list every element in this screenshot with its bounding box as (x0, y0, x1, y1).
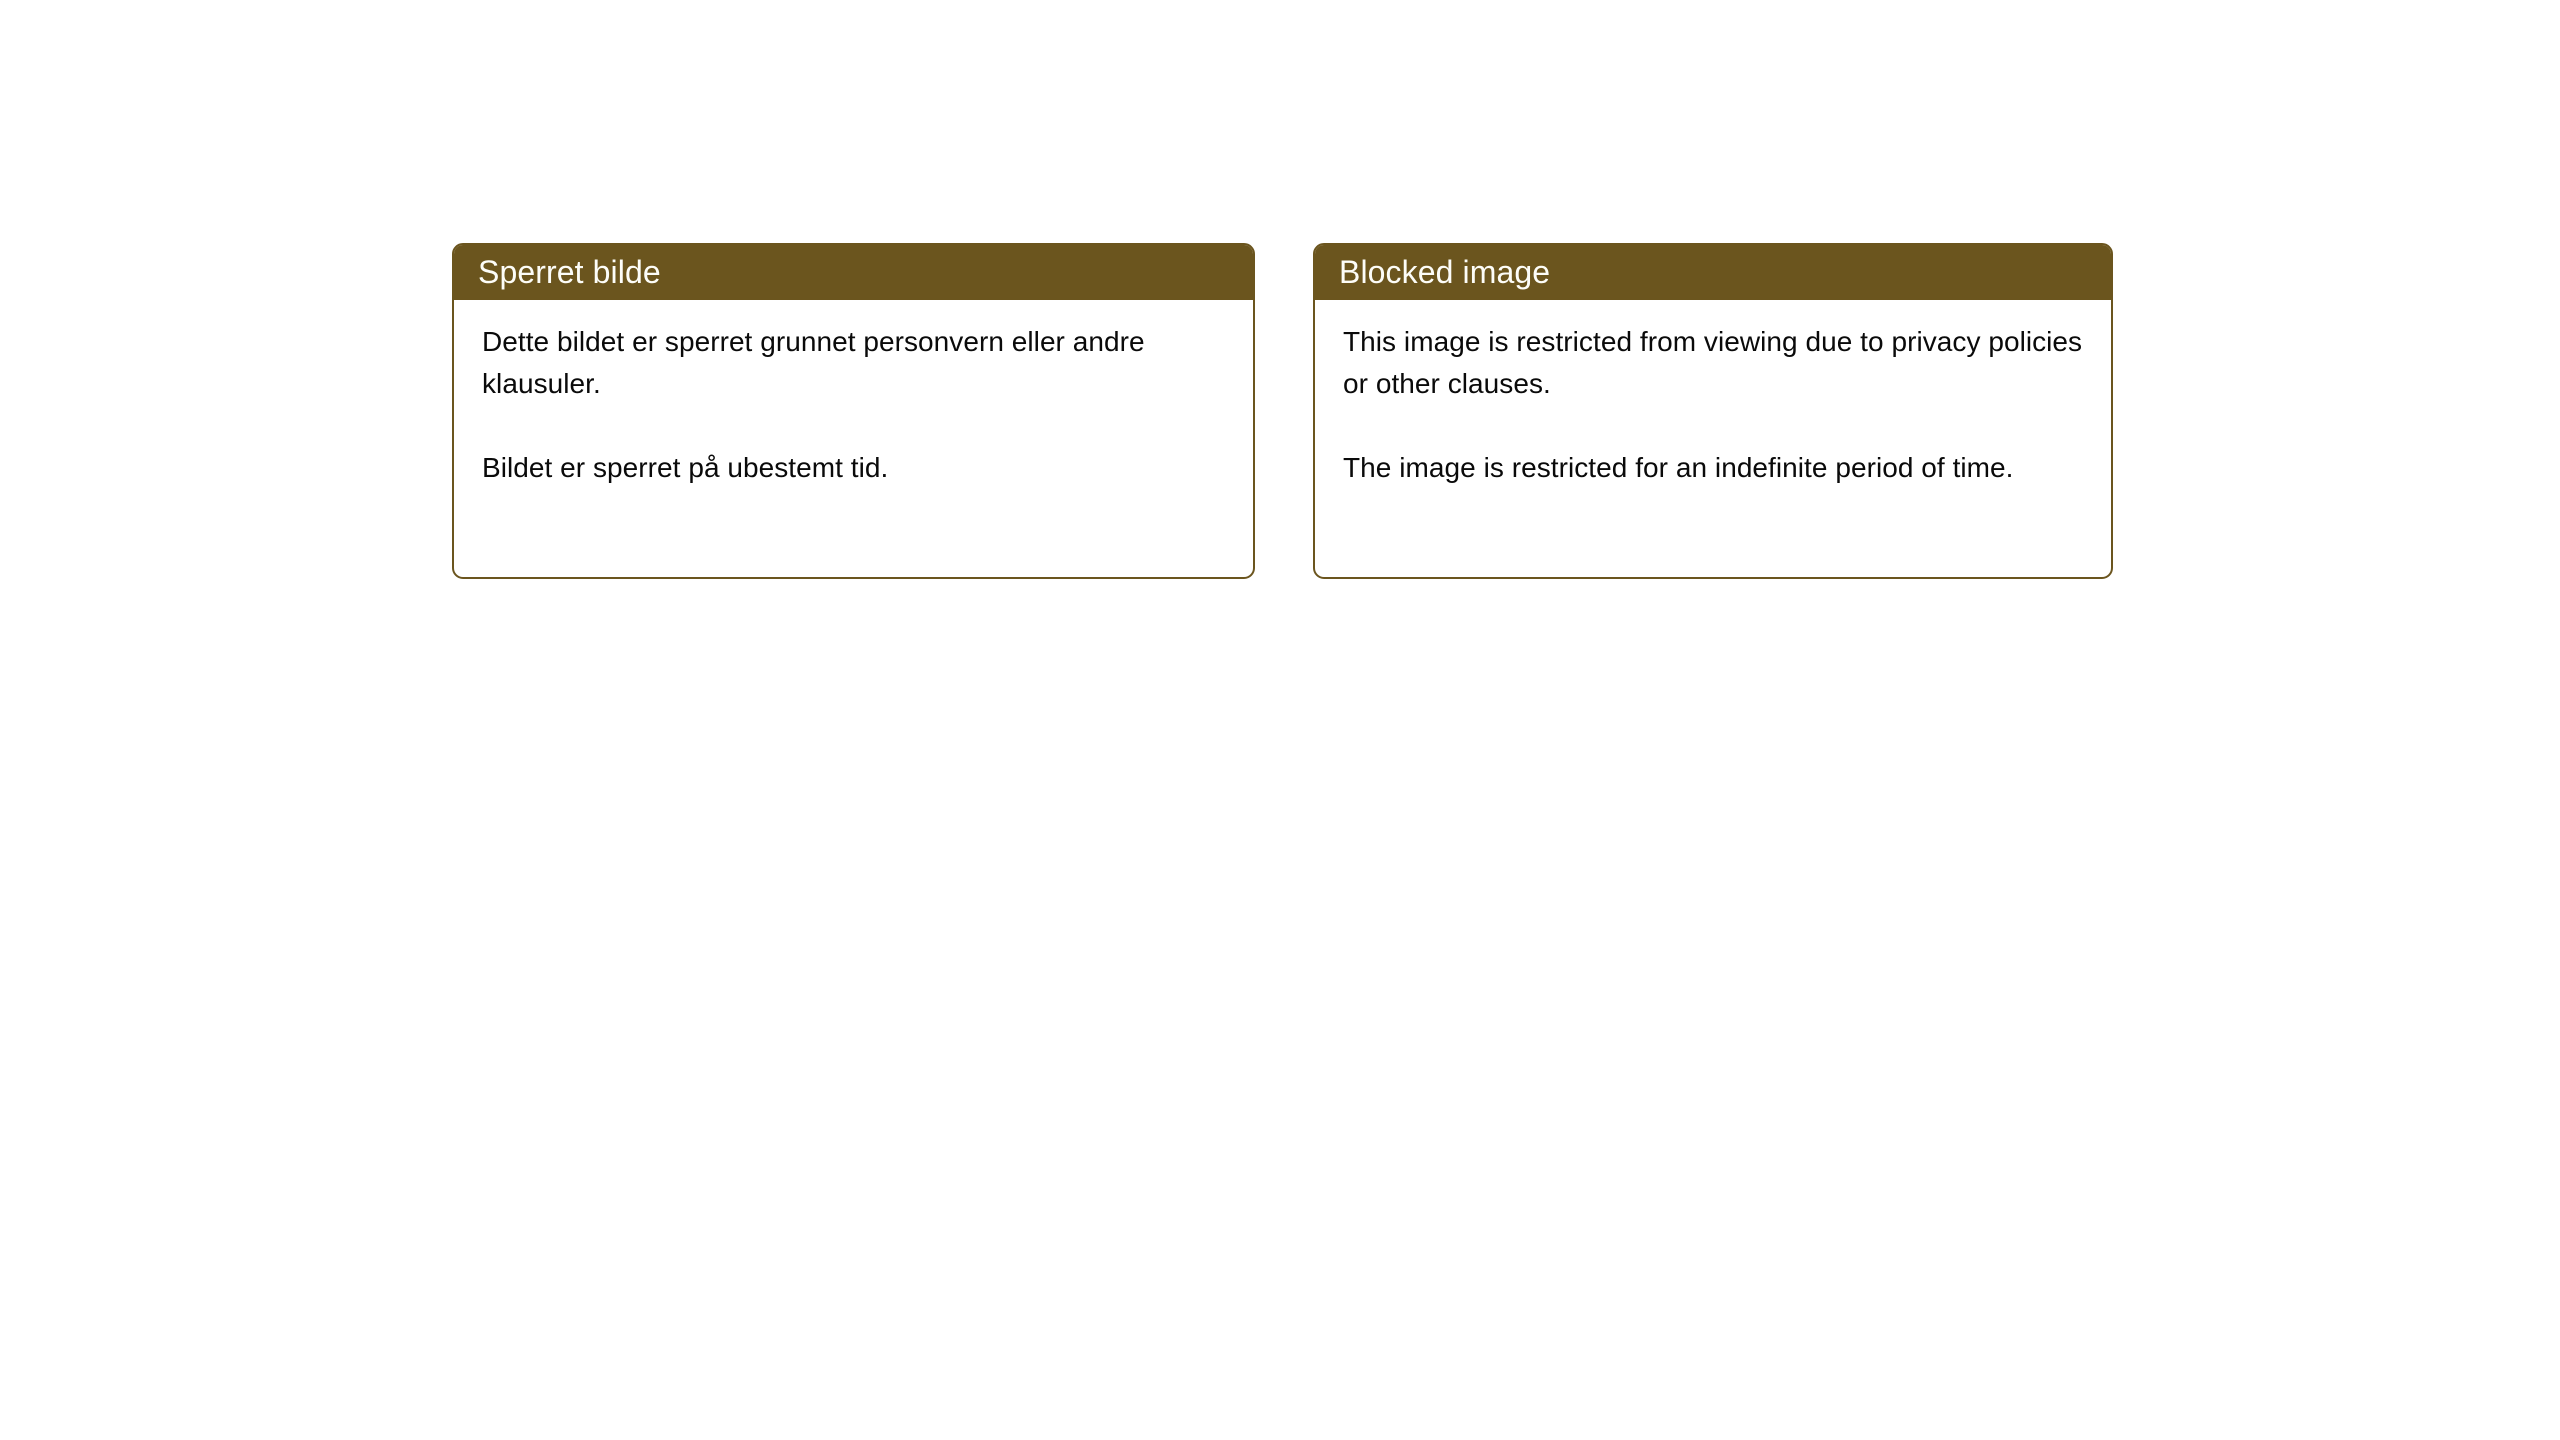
card-header-norwegian: Sperret bilde (452, 243, 1255, 300)
blocked-image-notice-board: Sperret bilde Dette bildet er sperret gr… (0, 0, 2560, 1440)
card-body-norwegian: Dette bildet er sperret grunnet personve… (454, 300, 1253, 489)
card-header-english: Blocked image (1313, 243, 2113, 300)
card-paragraph-norwegian-2: Bildet er sperret på ubestemt tid. (482, 447, 1227, 489)
blocked-image-card-norwegian: Sperret bilde Dette bildet er sperret gr… (452, 243, 1255, 579)
card-title-english: Blocked image (1339, 254, 1550, 290)
card-paragraph-english-2: The image is restricted for an indefinit… (1343, 447, 2085, 489)
card-paragraph-english-1: This image is restricted from viewing du… (1343, 321, 2085, 405)
card-body-english: This image is restricted from viewing du… (1315, 300, 2111, 489)
card-paragraph-norwegian-1: Dette bildet er sperret grunnet personve… (482, 321, 1227, 405)
card-title-norwegian: Sperret bilde (478, 254, 661, 290)
blocked-image-card-english: Blocked image This image is restricted f… (1313, 243, 2113, 579)
